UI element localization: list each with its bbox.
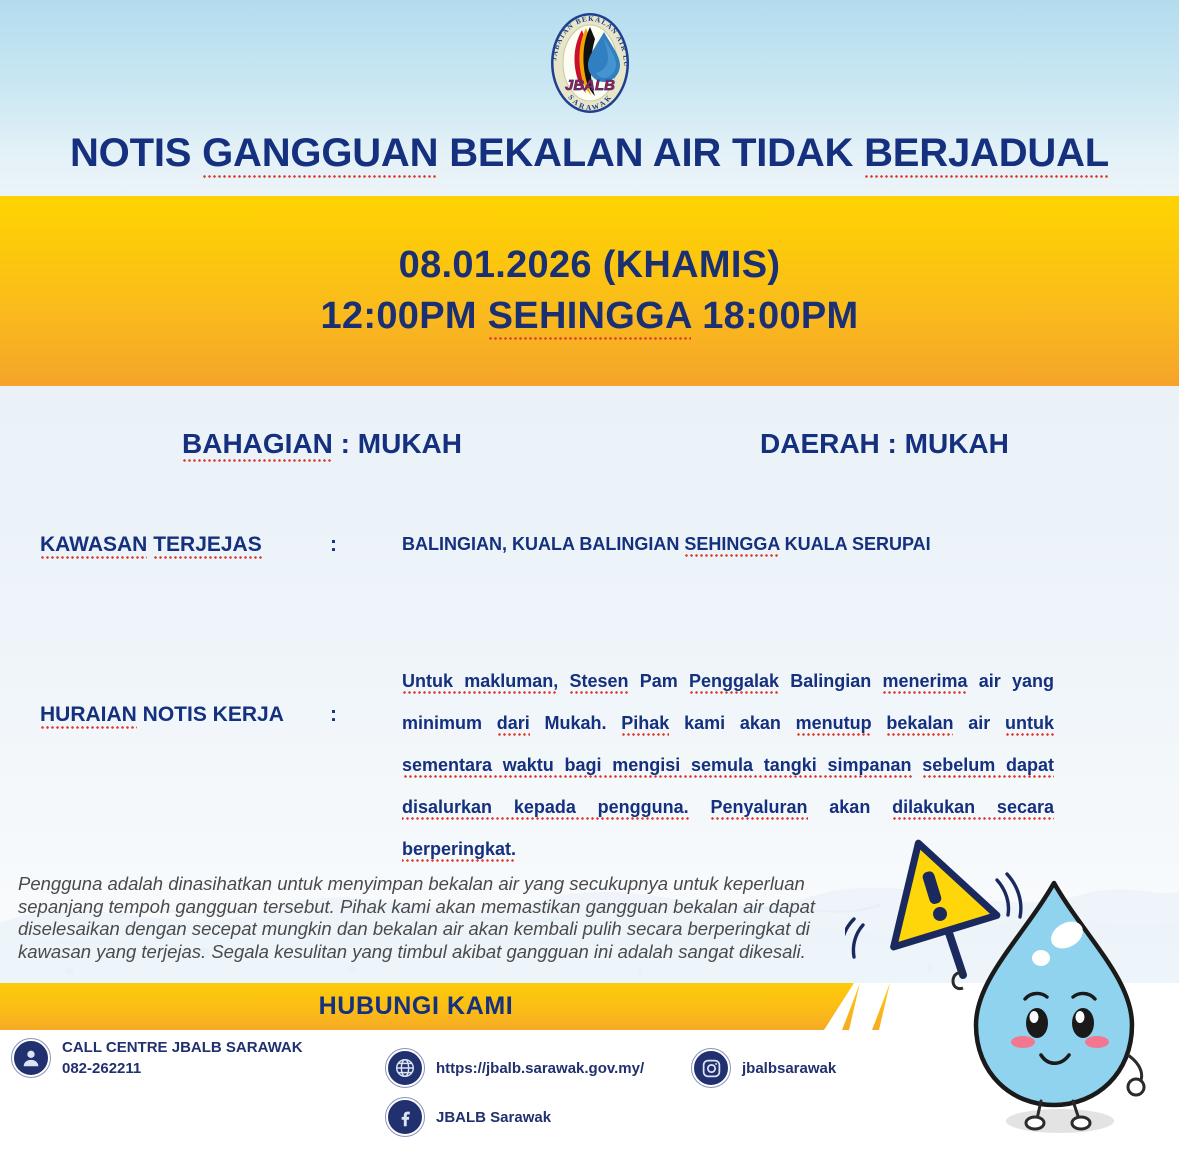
water-droplet-mascot: [845, 833, 1179, 1169]
notice-date: 08.01.2026 (KHAMIS): [399, 244, 781, 287]
globe-icon: [386, 1049, 424, 1087]
facebook-icon: [386, 1098, 424, 1136]
facebook-page-name: JBALB Sarawak: [436, 1107, 551, 1128]
advisory-text: Pengguna adalah dinasihatkan untuk menyi…: [18, 873, 844, 963]
division-label: BAHAGIAN : MUKAH: [182, 428, 462, 460]
contact-banner: HUBUNGI KAMI: [0, 983, 854, 1030]
contact-banner-title: HUBUNGI KAMI: [319, 992, 536, 1021]
work-description-colon: :: [330, 703, 337, 727]
affected-area-label: KAWASAN TERJEJAS: [40, 533, 262, 557]
contact-website[interactable]: https://jbalb.sarawak.gov.my/: [386, 1049, 644, 1087]
affected-area-value: BALINGIAN, KUALA BALINGIAN SEHINGGA KUAL…: [402, 534, 931, 555]
jbalb-logo: JABATAN BEKALAN AIR LUAR BANDAR SARAWAK …: [542, 8, 638, 118]
logo-acronym: JBALB: [565, 77, 615, 94]
website-url: https://jbalb.sarawak.gov.my/: [436, 1058, 644, 1079]
contact-call-centre[interactable]: CALL CENTRE JBALB SARAWAK 082-262211: [12, 1037, 303, 1079]
page-title: NOTIS GANGGUAN BEKALAN AIR TIDAK BERJADU…: [0, 131, 1179, 176]
affected-area-colon: :: [330, 533, 337, 557]
call-centre-number: 082-262211: [62, 1058, 303, 1079]
date-time-banner: 08.01.2026 (KHAMIS) 12:00PM SEHINGGA 18:…: [0, 196, 1179, 386]
district-label: DAERAH : MUKAH: [760, 428, 1009, 460]
division-district-row: BAHAGIAN : MUKAH DAERAH : MUKAH: [0, 428, 1179, 468]
contact-instagram[interactable]: jbalbsarawak: [692, 1049, 836, 1087]
work-description-label: HURAIAN NOTIS KERJA: [40, 703, 284, 727]
contact-facebook[interactable]: JBALB Sarawak: [386, 1098, 551, 1136]
call-centre-name: CALL CENTRE JBALB SARAWAK: [62, 1037, 303, 1058]
instagram-icon: [692, 1049, 730, 1087]
person-icon: [12, 1039, 50, 1077]
instagram-handle: jbalbsarawak: [742, 1058, 836, 1079]
notice-time-range: 12:00PM SEHINGGA 18:00PM: [321, 295, 859, 338]
